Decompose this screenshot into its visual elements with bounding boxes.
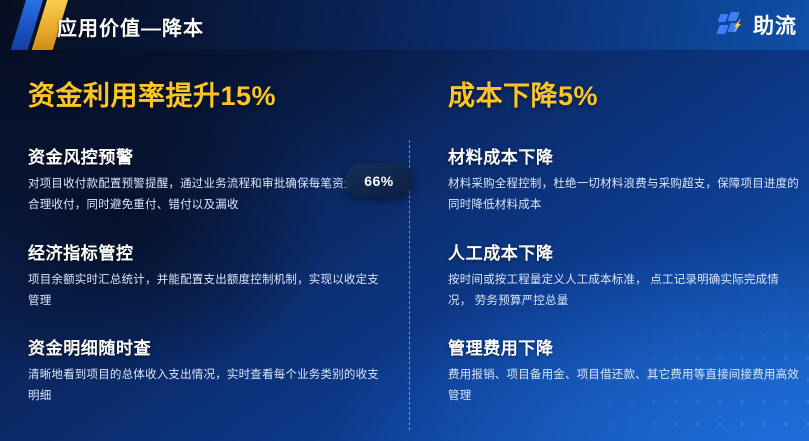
feature-desc: 清晰地看到项目的总体收入支出情况，实时查看每个业务类别的收支明细 xyxy=(28,365,380,408)
slide-root: 应用价值—降本 助流 资金利用率提升15% 资金风控预警 对项目收付款配置预警提… xyxy=(0,0,809,441)
brand-block-3 xyxy=(716,25,728,34)
column-left: 资金利用率提升15% 资金风控预警 对项目收付款配置预警提醒，通过业务流程和审批… xyxy=(28,74,400,430)
column-left-heading: 资金利用率提升15% xyxy=(28,74,400,113)
feature-title: 人工成本下降 xyxy=(448,239,809,264)
feature-title: 管理费用下降 xyxy=(448,334,809,359)
percentage-badge: 66% xyxy=(345,163,413,198)
feature-title: 资金明细随时查 xyxy=(28,334,400,359)
feature-block: 资金明细随时查 清晰地看到项目的总体收入支出情况，实时查看每个业务类别的收支明细 xyxy=(28,334,400,408)
feature-desc: 项目余额实时汇总统计，并能配置支出额度控制机制，实现以收定支管理 xyxy=(28,270,380,313)
brand-block-2 xyxy=(727,12,739,21)
feature-desc: 对项目收付款配置预警提醒，通过业务流程和审批确保每笔资金及时合理收付，同时避免重… xyxy=(28,174,380,217)
feature-title: 资金风控预警 xyxy=(28,143,400,168)
feature-block: 经济指标管控 项目余额实时汇总统计，并能配置支出额度控制机制，实现以收定支管理 xyxy=(28,239,400,313)
column-right-heading: 成本下降5% xyxy=(448,74,809,113)
feature-desc: 费用报销、项目备用金、项目借还款、其它费用等直接间接费用高效管理 xyxy=(448,365,800,408)
feature-desc: 按时间或按工程量定义人工成本标准， 点工记录明确实际完成情况， 劳务预算严控总量 xyxy=(448,270,800,313)
lightning-blocks-icon xyxy=(718,12,748,38)
column-right: 成本下降5% 材料成本下降 材料采购全程控制，杜绝一切材料浪费与采购超支，保障项… xyxy=(448,74,809,430)
feature-desc: 材料采购全程控制，杜绝一切材料浪费与采购超支，保障项目进度的同时降低材料成本 xyxy=(448,174,800,217)
percentage-badge-value: 66% xyxy=(364,173,394,189)
feature-title: 材料成本下降 xyxy=(448,143,809,168)
feature-title: 经济指标管控 xyxy=(28,239,400,264)
slide-header: 应用价值—降本 助流 xyxy=(0,0,809,50)
feature-block: 人工成本下降 按时间或按工程量定义人工成本标准， 点工记录明确实际完成情况， 劳… xyxy=(448,239,809,313)
feature-block: 管理费用下降 费用报销、项目备用金、项目借还款、其它费用等直接间接费用高效管理 xyxy=(448,334,809,408)
brand-name: 助流 xyxy=(753,10,797,40)
page-title: 应用价值—降本 xyxy=(57,12,204,41)
feature-block: 材料成本下降 材料采购全程控制，杜绝一切材料浪费与采购超支，保障项目进度的同时降… xyxy=(448,143,809,217)
brand-logo: 助流 xyxy=(718,10,797,40)
